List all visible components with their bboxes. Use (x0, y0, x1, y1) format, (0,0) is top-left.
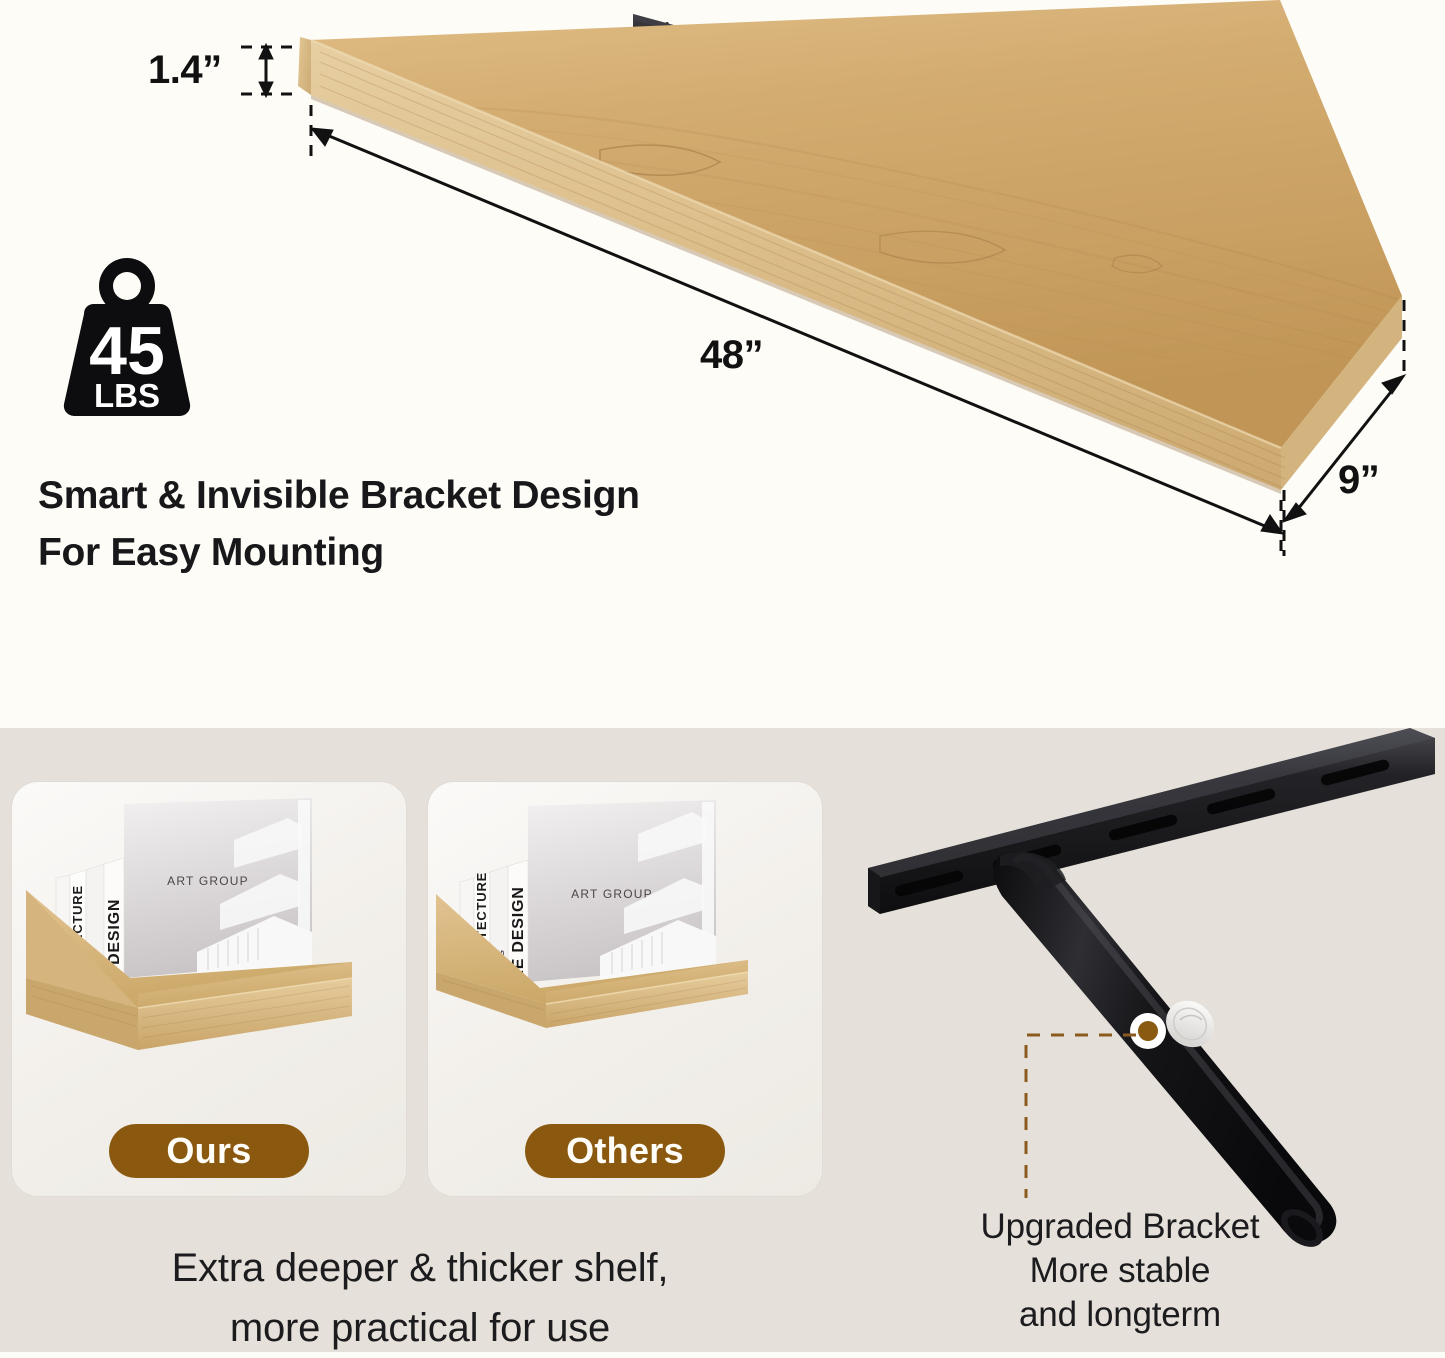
comparison-card-others: ART GROUP ARCHITEC ARCHITECTURE (428, 782, 822, 1196)
oak-shelf-board (288, 0, 1402, 494)
weight-icon: 45 LBS (52, 252, 202, 422)
bracket-caption: Upgraded Bracket More stable and longter… (905, 1205, 1335, 1336)
page-title: Smart & Invisible Bracket Design For Eas… (38, 468, 868, 581)
comparison-caption-line-2: more practical for use (30, 1298, 810, 1358)
ours-shelf-scene: ART GROUP ARCHITE (12, 782, 406, 1112)
badge-others: Others (525, 1124, 725, 1178)
comparison-caption-line-1: Extra deeper & thicker shelf, (30, 1238, 810, 1298)
comparison-card-ours: ART GROUP ARCHITE (12, 782, 406, 1196)
badge-ours: Ours (109, 1124, 309, 1178)
bracket-caption-line-2: More stable (905, 1249, 1335, 1293)
thickness-label: 1.4” (148, 48, 222, 93)
support-rod (993, 852, 1336, 1248)
callout-dashed-line (1026, 1035, 1136, 1198)
wall-rail (868, 728, 1435, 914)
bracket-caption-line-1: Upgraded Bracket (905, 1205, 1335, 1249)
headline-line-1: Smart & Invisible Bracket Design (38, 468, 868, 525)
poster-label: ART GROUP (571, 887, 653, 901)
poster-label: ART GROUP (167, 874, 249, 888)
depth-label: 9” (1338, 458, 1379, 503)
weight-unit: LBS (94, 377, 160, 414)
headline-line-2: For Easy Mounting (38, 525, 868, 582)
length-label: 48” (700, 333, 763, 378)
comparison-caption: Extra deeper & thicker shelf, more pract… (30, 1238, 810, 1358)
comparison-cards: ART GROUP ARCHITE (12, 782, 822, 1196)
bracket-detail-illustration (850, 728, 1445, 1248)
art-poster-ours: ART GROUP (124, 798, 312, 978)
others-shelf-scene: ART GROUP ARCHITEC ARCHITECTURE (428, 782, 822, 1112)
weight-capacity-badge: 45 LBS (52, 252, 202, 422)
art-poster-others: ART GROUP (528, 800, 716, 982)
bracket-caption-line-3: and longterm (905, 1293, 1335, 1337)
